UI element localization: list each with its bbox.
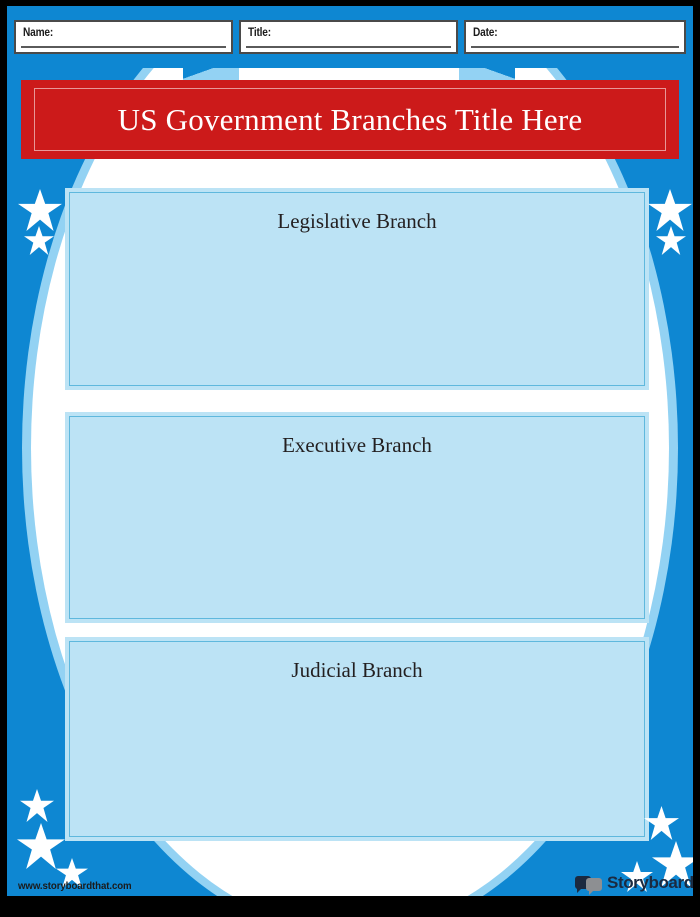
- title-field-rule: [246, 46, 451, 48]
- executive-branch-label: Executive Branch: [70, 417, 644, 458]
- speech-bubble-front-icon: [586, 878, 602, 891]
- star-icon: [648, 189, 692, 231]
- executive-branch-box-inner: Executive Branch: [69, 416, 645, 619]
- speech-bubbles-icon: [575, 874, 603, 893]
- title-banner[interactable]: US Government Branches Title Here: [21, 80, 679, 159]
- title-field[interactable]: Title:: [239, 20, 458, 54]
- site-url[interactable]: www.storyboardthat.com: [18, 880, 132, 892]
- name-field-rule: [21, 46, 226, 48]
- date-field[interactable]: Date:: [464, 20, 686, 54]
- header-strip: Name: Title: Date:: [7, 6, 693, 68]
- storyboardthat-logo[interactable]: StoryboardThat: [575, 872, 693, 894]
- date-field-label: Date:: [473, 27, 497, 39]
- legislative-branch-box-inner: Legislative Branch: [69, 192, 645, 386]
- name-field-label: Name:: [23, 27, 53, 39]
- name-field[interactable]: Name:: [14, 20, 233, 54]
- judicial-branch-label: Judicial Branch: [70, 642, 644, 683]
- title-field-label: Title:: [248, 27, 271, 39]
- star-icon: [18, 189, 62, 231]
- star-icon: [17, 823, 65, 869]
- poster-title: US Government Branches Title Here: [118, 102, 583, 138]
- star-icon: [656, 226, 686, 255]
- date-field-rule: [471, 46, 679, 48]
- legislative-branch-box[interactable]: Legislative Branch: [65, 188, 649, 390]
- judicial-branch-box[interactable]: Judicial Branch: [65, 637, 649, 841]
- legislative-branch-label: Legislative Branch: [70, 193, 644, 234]
- worksheet-poster: Name: Title: Date: US Government Branche…: [7, 6, 693, 896]
- star-icon: [644, 806, 679, 840]
- title-banner-inner-border: US Government Branches Title Here: [34, 88, 666, 151]
- judicial-branch-box-inner: Judicial Branch: [69, 641, 645, 837]
- star-icon: [20, 789, 54, 822]
- logo-word-storyboard: Storyboard: [607, 873, 693, 893]
- executive-branch-box[interactable]: Executive Branch: [65, 412, 649, 623]
